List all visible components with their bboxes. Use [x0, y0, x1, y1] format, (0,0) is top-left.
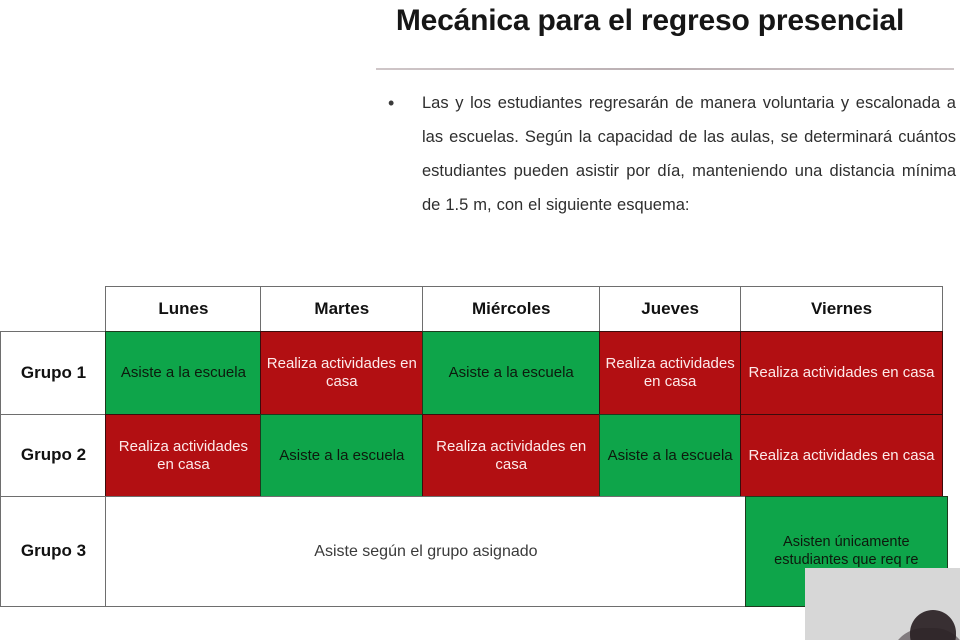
- cell-grupo2-martes: Asiste a la escuela: [260, 414, 424, 498]
- cell-grupo2-lunes: Realiza actividades en casa: [105, 414, 261, 498]
- page-title: Mecánica para el regreso presencial: [345, 4, 955, 39]
- column-header-miercoles: Miércoles: [422, 286, 600, 333]
- cell-grupo2-miercoles: Realiza actividades en casa: [422, 414, 600, 498]
- table-header-row: Lunes Martes Miércoles Jueves Viernes: [0, 286, 951, 331]
- table-row: Grupo 1 Asiste a la escuela Realiza acti…: [0, 331, 951, 414]
- cell-grupo1-jueves: Realiza actividades en casa: [599, 331, 742, 416]
- video-call-thumbnail-overlay[interactable]: [805, 568, 960, 640]
- slide-canvas: Mecánica para el regreso presencial • La…: [0, 0, 960, 640]
- bullet-marker-icon: •: [386, 86, 422, 120]
- row-label-grupo-1: Grupo 1: [0, 331, 107, 416]
- cell-grupo1-miercoles: Asiste a la escuela: [422, 331, 600, 416]
- table-row: Grupo 2 Realiza actividades en casa Asis…: [0, 414, 951, 496]
- cell-grupo2-jueves: Asiste a la escuela: [599, 414, 742, 498]
- cell-grupo1-viernes: Realiza actividades en casa: [740, 331, 943, 416]
- title-divider: [376, 68, 954, 70]
- column-header-martes: Martes: [260, 286, 424, 333]
- bullet-body-text: Las y los estudiantes regresarán de mane…: [422, 86, 956, 222]
- header-corner-spacer: [0, 286, 107, 333]
- cell-grupo2-viernes: Realiza actividades en casa: [740, 414, 943, 498]
- column-header-viernes: Viernes: [740, 286, 943, 333]
- column-header-jueves: Jueves: [599, 286, 742, 333]
- schedule-table: Lunes Martes Miércoles Jueves Viernes Gr…: [0, 286, 951, 606]
- cell-grupo1-lunes: Asiste a la escuela: [105, 331, 261, 416]
- row-label-grupo-3: Grupo 3: [0, 496, 107, 607]
- row-label-grupo-2: Grupo 2: [0, 414, 107, 498]
- column-header-lunes: Lunes: [105, 286, 261, 333]
- cell-grupo1-martes: Realiza actividades en casa: [260, 331, 424, 416]
- participant-head-shape: [910, 610, 956, 640]
- bullet-paragraph: • Las y los estudiantes regresarán de ma…: [386, 86, 956, 222]
- cell-grupo3-merged-weekdays: Asiste según el grupo asignado: [105, 496, 746, 607]
